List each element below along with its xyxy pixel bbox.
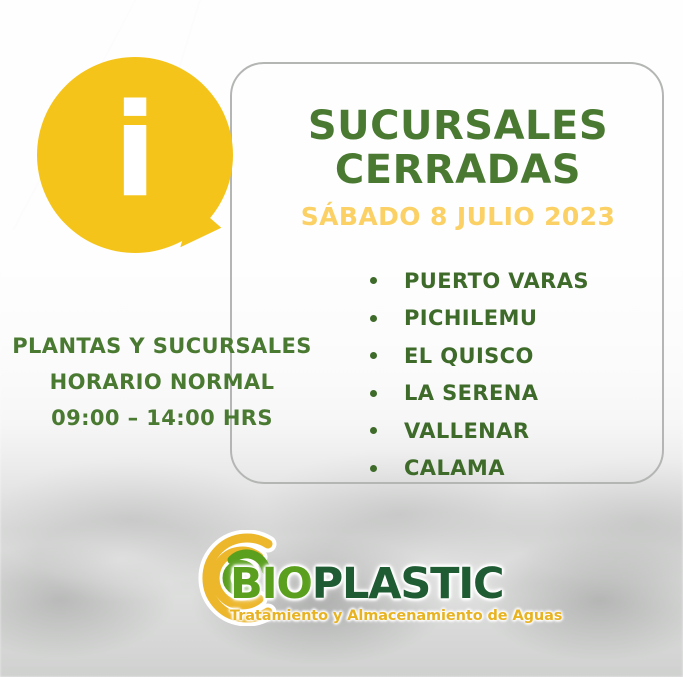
- logo-word-plastic: PLASTIC: [312, 559, 504, 609]
- normal-hours-block: PLANTAS Y SUCURSALES HORARIO NORMAL 09:0…: [12, 328, 312, 436]
- bullet-dot-icon: [370, 315, 377, 322]
- closed-branches-announcement-poster: i SUCURSALES CERRADAS SÁBADO 8 JULIO 202…: [0, 0, 683, 677]
- logo-word: BIOPLASTIC: [230, 561, 495, 607]
- bullet-dot-icon: [370, 427, 377, 434]
- bullet-dot-icon: [370, 465, 377, 472]
- branch-name: CALAMA: [404, 456, 505, 480]
- bioplastic-logo: BIOPLASTIC Tratamiento y Almacenamiento …: [190, 528, 495, 638]
- list-item: LA SERENA: [370, 375, 660, 413]
- closed-branches-list: PUERTO VARAS PICHILEMU EL QUISCO LA SERE…: [370, 262, 660, 487]
- info-icon: i: [37, 57, 233, 253]
- logo-word-bio: BIO: [230, 559, 312, 609]
- bullet-dot-icon: [370, 352, 377, 359]
- headline-line-1: SUCURSALES: [268, 104, 648, 148]
- logo-tagline: Tratamiento y Almacenamiento de Aguas: [230, 608, 495, 624]
- headline-date: SÁBADO 8 JULIO 2023: [268, 203, 648, 231]
- branch-name: EL QUISCO: [404, 344, 534, 368]
- bullet-dot-icon: [370, 390, 377, 397]
- list-item: VALLENAR: [370, 412, 660, 450]
- headline-line-2: CERRADAS: [268, 148, 648, 192]
- branch-name: PUERTO VARAS: [404, 269, 589, 293]
- branch-name: VALLENAR: [404, 419, 529, 443]
- list-item: EL QUISCO: [370, 337, 660, 375]
- logo-wordmark: BIOPLASTIC Tratamiento y Almacenamiento …: [230, 561, 495, 624]
- list-item: PUERTO VARAS: [370, 262, 660, 300]
- bullet-dot-icon: [370, 277, 377, 284]
- headline-block: SUCURSALES CERRADAS SÁBADO 8 JULIO 2023: [268, 104, 648, 231]
- list-item: CALAMA: [370, 450, 660, 488]
- info-letter-i: i: [37, 57, 233, 253]
- hours-line-1: PLANTAS Y SUCURSALES: [12, 328, 312, 364]
- branch-name: LA SERENA: [404, 381, 538, 405]
- list-item: PICHILEMU: [370, 300, 660, 338]
- hours-line-3: 09:00 – 14:00 HRS: [12, 400, 312, 436]
- branch-name: PICHILEMU: [404, 306, 537, 330]
- hours-line-2: HORARIO NORMAL: [12, 364, 312, 400]
